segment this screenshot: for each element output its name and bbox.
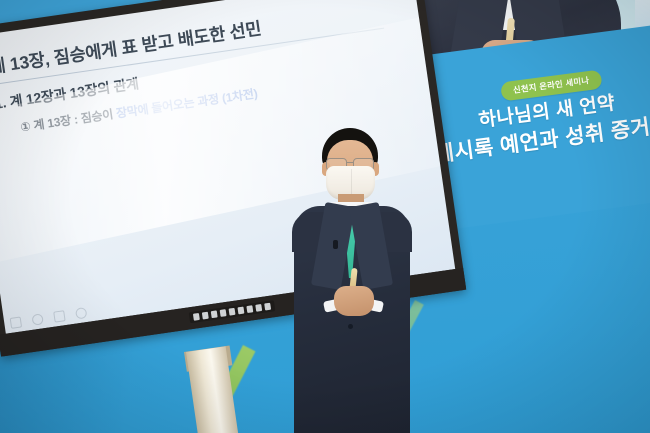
- monitor-button[interactable]: [193, 313, 200, 321]
- monitor-button[interactable]: [237, 307, 244, 315]
- monitor-power-button[interactable]: [264, 303, 271, 311]
- screenshot-scene: 신천지 온라인 세미나 하나님의 새 언약 계시록 예언과 성취 증거 계 13…: [0, 0, 650, 433]
- monitor-button[interactable]: [211, 310, 218, 318]
- speaker-figure: [286, 128, 418, 433]
- slide-bullet-2-prefix: ① 계 13장 : 짐승이: [20, 107, 118, 135]
- footer-icon-2: [31, 313, 43, 325]
- monitor-button[interactable]: [220, 309, 227, 317]
- footer-icon-1: [10, 316, 22, 328]
- lapel-microphone-icon: [333, 240, 338, 249]
- monitor-button[interactable]: [255, 304, 262, 312]
- monitor-button[interactable]: [202, 312, 209, 320]
- monitor-button[interactable]: [246, 305, 253, 313]
- speaker-jacket-button: [348, 324, 353, 329]
- footer-icon-3: [53, 310, 65, 322]
- footer-icon-4: [75, 307, 87, 319]
- monitor-button[interactable]: [229, 308, 236, 316]
- speaker-hands: [334, 286, 374, 316]
